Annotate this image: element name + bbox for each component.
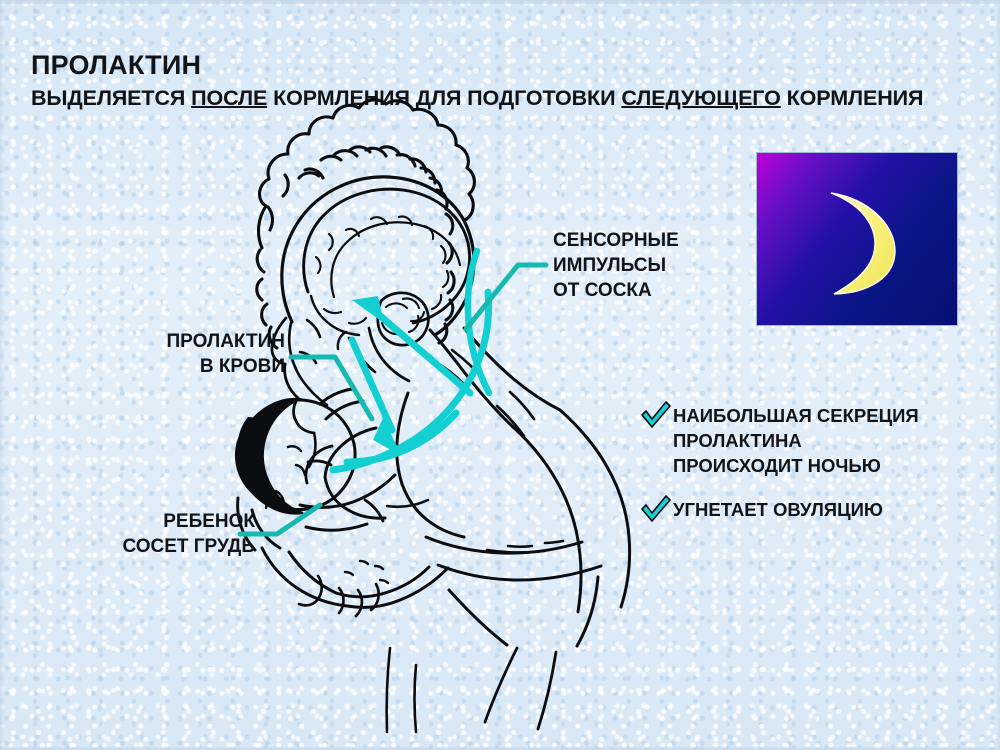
label-sensory-line1: СЕНСОРНЫЕ <box>553 228 679 253</box>
brain-outline <box>304 189 470 381</box>
bullet-text: УГНЕТАЕТ ОВУЛЯЦИЮ <box>673 497 883 522</box>
bullet-item: УГНЕТАЕТ ОВУЛЯЦИЮ <box>639 497 919 529</box>
check-icon <box>639 494 673 529</box>
bullet-1-line1: НАИБОЛЬШАЯ СЕКРЕЦИЯ <box>673 403 919 428</box>
leader-line-sensory <box>466 265 546 329</box>
label-sensory-impulses: СЕНСОРНЫЕ ИМПУЛЬСЫ ОТ СОСКА <box>553 228 679 303</box>
label-baby-line1: РЕБЕНОК <box>122 509 255 534</box>
bullet-item: НАИБОЛЬШАЯ СЕКРЕЦИЯ ПРОЛАКТИНА ПРОИСХОДИ… <box>639 403 919 478</box>
slide-canvas: ПРОЛАКТИН ВЫДЕЛЯЕТСЯ ПОСЛЕ КОРМЛЕНИЯ ДЛЯ… <box>0 0 1000 750</box>
label-baby-suckling: РЕБЕНОК СОСЕТ ГРУДЬ <box>122 509 255 559</box>
label-sensory-line3: ОТ СОСКА <box>553 278 679 303</box>
label-baby-line2: СОСЕТ ГРУДЬ <box>122 534 255 559</box>
check-icon <box>639 400 673 435</box>
bullet-text: НАИБОЛЬШАЯ СЕКРЕЦИЯ ПРОЛАКТИНА ПРОИСХОДИ… <box>673 403 919 478</box>
bullet-list: НАИБОЛЬШАЯ СЕКРЕЦИЯ ПРОЛАКТИНА ПРОИСХОДИ… <box>639 403 919 548</box>
bullet-1-line2: ПРОЛАКТИНА <box>673 428 919 453</box>
label-prolactin-blood-line2: В КРОВИ <box>167 354 286 379</box>
bullet-1-line3: ПРОИСХОДИТ НОЧЬЮ <box>673 453 919 478</box>
label-prolactin-in-blood: ПРОЛАКТИН В КРОВИ <box>167 329 286 379</box>
illustration-breastfeeding-prolactin <box>0 0 1000 750</box>
label-prolactin-blood-line1: ПРОЛАКТИН <box>167 329 286 354</box>
bullet-2-line1: УГНЕТАЕТ ОВУЛЯЦИЮ <box>673 497 883 522</box>
label-sensory-line2: ИМПУЛЬСЫ <box>553 253 679 278</box>
